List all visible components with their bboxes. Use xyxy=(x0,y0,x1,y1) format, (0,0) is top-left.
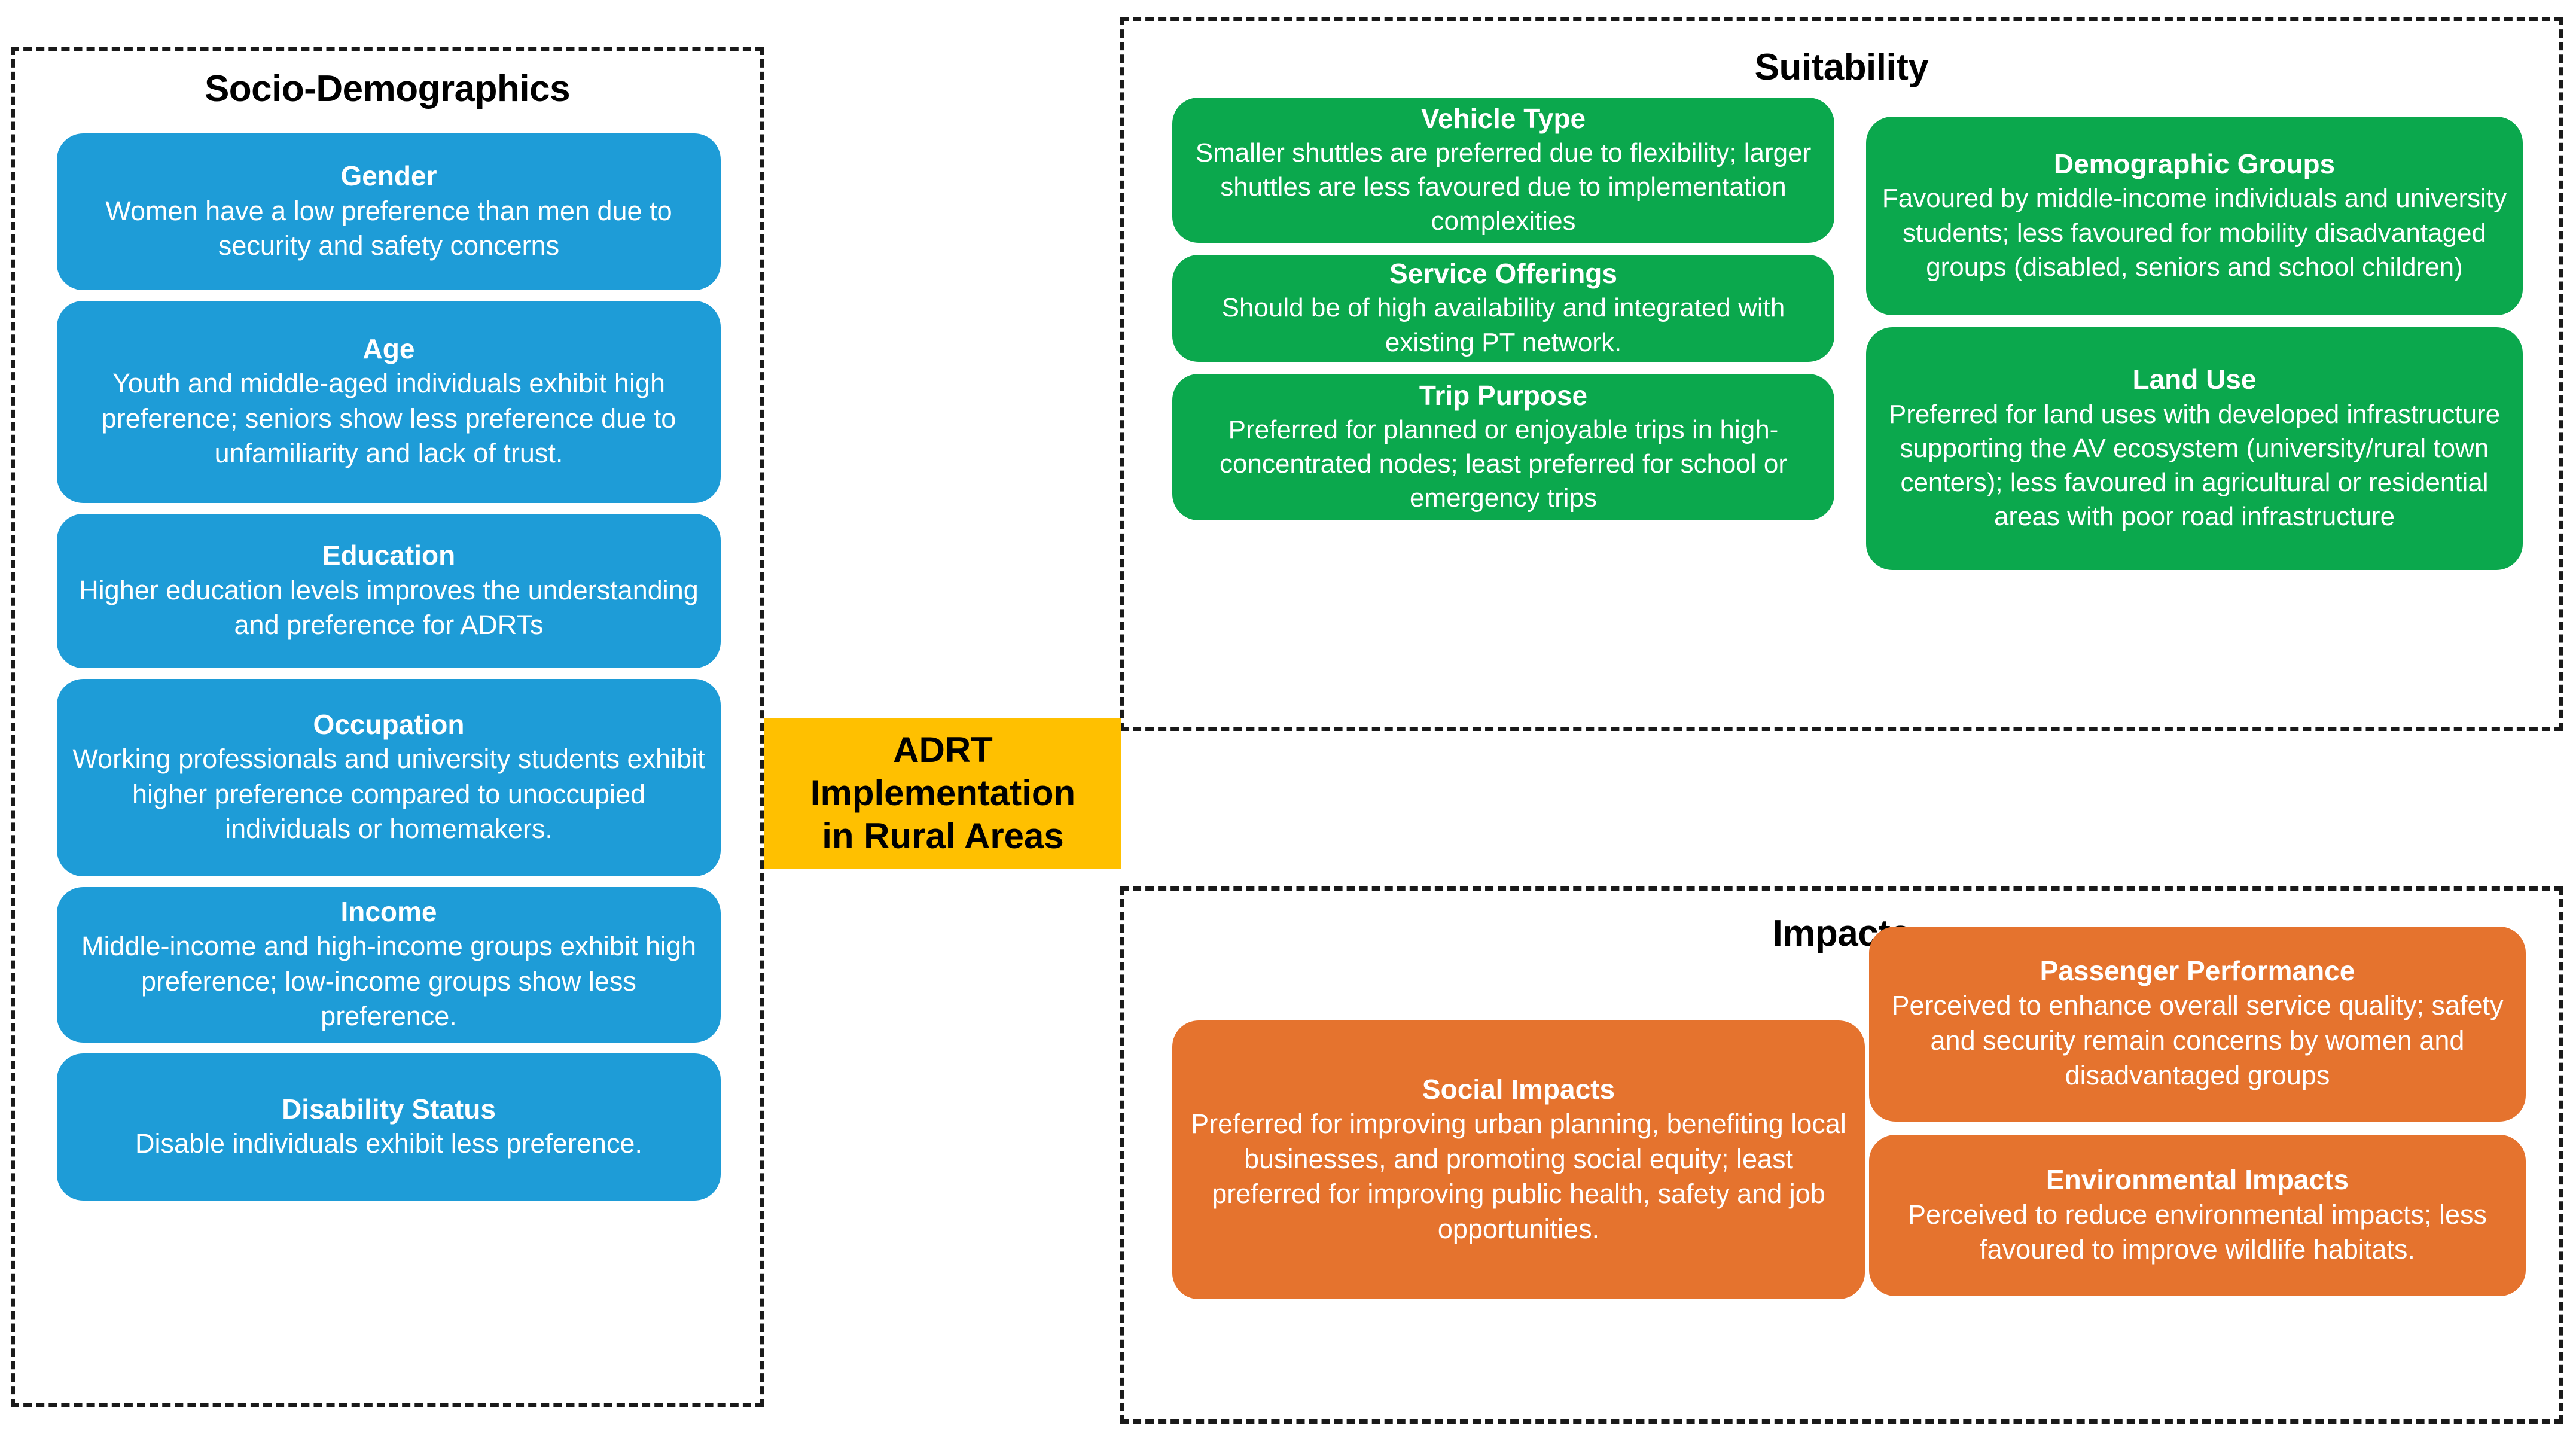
impacts-panel: Impacts Social Impacts Preferred for imp… xyxy=(1120,886,2563,1424)
card-service-offerings[interactable]: Service Offerings Should be of high avai… xyxy=(1172,255,1834,362)
card-disability-status-body: Disable individuals exhibit less prefere… xyxy=(135,1126,642,1162)
card-trip-purpose-title: Trip Purpose xyxy=(1419,379,1587,412)
card-environmental-impacts-body: Perceived to reduce environmental impact… xyxy=(1885,1198,2510,1268)
card-trip-purpose-body: Preferred for planned or enjoyable trips… xyxy=(1188,413,1819,516)
suitability-title: Suitability xyxy=(1124,46,2559,89)
adrt-implementation-key-box: ADRT Implementation in Rural Areas xyxy=(764,718,1121,869)
card-income[interactable]: Income Middle-income and high-income gro… xyxy=(57,887,721,1043)
card-demographic-groups[interactable]: Demographic Groups Favoured by middle-in… xyxy=(1866,117,2523,315)
card-income-body: Middle-income and high-income groups exh… xyxy=(72,929,705,1034)
card-social-impacts-title: Social Impacts xyxy=(1422,1073,1615,1105)
card-education[interactable]: Education Higher education levels improv… xyxy=(57,514,721,668)
suitability-panel: Suitability Vehicle Type Smaller shuttle… xyxy=(1120,17,2563,731)
card-occupation-body: Working professionals and university stu… xyxy=(72,742,705,847)
card-environmental-impacts-title: Environmental Impacts xyxy=(2046,1163,2349,1196)
card-age[interactable]: Age Youth and middle-aged individuals ex… xyxy=(57,301,721,503)
card-age-title: Age xyxy=(363,333,415,365)
card-passenger-performance-body: Perceived to enhance overall service qua… xyxy=(1885,988,2510,1093)
card-vehicle-type-body: Smaller shuttles are preferred due to fl… xyxy=(1188,136,1819,239)
card-occupation-title: Occupation xyxy=(313,708,464,741)
card-social-impacts[interactable]: Social Impacts Preferred for improving u… xyxy=(1172,1020,1865,1299)
card-gender[interactable]: Gender Women have a low preference than … xyxy=(57,133,721,290)
impacts-left-column: Social Impacts Preferred for improving u… xyxy=(1172,1020,1865,1299)
card-demographic-groups-body: Favoured by middle-income individuals an… xyxy=(1882,181,2507,284)
suitability-left-column: Vehicle Type Smaller shuttles are prefer… xyxy=(1172,98,1834,520)
center-box-line-2: Implementation xyxy=(810,772,1075,815)
card-education-body: Higher education levels improves the und… xyxy=(72,573,705,643)
card-trip-purpose[interactable]: Trip Purpose Preferred for planned or en… xyxy=(1172,374,1834,520)
card-gender-body: Women have a low preference than men due… xyxy=(72,194,705,264)
card-land-use[interactable]: Land Use Preferred for land uses with de… xyxy=(1866,327,2523,570)
socio-demographics-panel: Socio-Demographics Gender Women have a l… xyxy=(11,47,764,1407)
card-service-offerings-body: Should be of high availability and integ… xyxy=(1188,291,1819,359)
card-land-use-body: Preferred for land uses with developed i… xyxy=(1882,397,2507,534)
card-land-use-title: Land Use xyxy=(2132,363,2256,395)
card-education-title: Education xyxy=(322,539,455,571)
center-box-line-3: in Rural Areas xyxy=(810,815,1075,858)
card-demographic-groups-title: Demographic Groups xyxy=(2054,148,2335,180)
suitability-right-column: Demographic Groups Favoured by middle-in… xyxy=(1866,117,2523,570)
card-passenger-performance-title: Passenger Performance xyxy=(2040,955,2355,987)
center-box-line-1: ADRT xyxy=(810,729,1075,772)
card-vehicle-type[interactable]: Vehicle Type Smaller shuttles are prefer… xyxy=(1172,98,1834,243)
card-occupation[interactable]: Occupation Working professionals and uni… xyxy=(57,679,721,876)
card-social-impacts-body: Preferred for improving urban planning, … xyxy=(1188,1107,1849,1247)
card-income-title: Income xyxy=(340,895,437,928)
card-gender-title: Gender xyxy=(340,160,437,192)
card-environmental-impacts[interactable]: Environmental Impacts Perceived to reduc… xyxy=(1869,1135,2526,1296)
card-age-body: Youth and middle-aged individuals exhibi… xyxy=(72,366,705,471)
socio-demographics-card-list: Gender Women have a low preference than … xyxy=(57,133,721,1201)
card-vehicle-type-title: Vehicle Type xyxy=(1421,102,1586,135)
card-service-offerings-title: Service Offerings xyxy=(1389,257,1617,290)
card-disability-status-title: Disability Status xyxy=(282,1093,496,1125)
card-passenger-performance[interactable]: Passenger Performance Perceived to enhan… xyxy=(1869,927,2526,1122)
card-disability-status[interactable]: Disability Status Disable individuals ex… xyxy=(57,1053,721,1201)
socio-demographics-title: Socio-Demographics xyxy=(15,68,760,110)
impacts-right-column: Passenger Performance Perceived to enhan… xyxy=(1869,927,2526,1296)
